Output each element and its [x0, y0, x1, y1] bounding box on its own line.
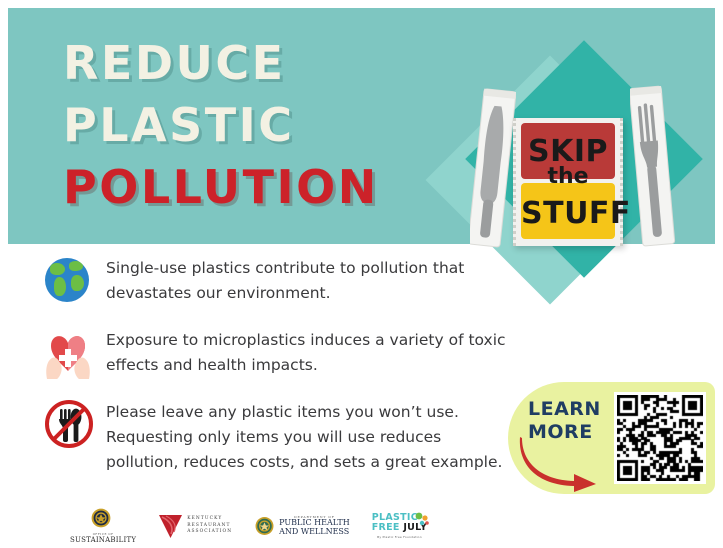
bullet-text-environment: Single-use plastics contribute to pollut…	[106, 252, 508, 306]
learn-more-line-1: LEARN	[528, 398, 601, 421]
earth-globe-icon	[38, 252, 96, 310]
logo-sustainability-big: SUSTAINABILITY	[70, 536, 136, 544]
wrapped-knife-icon	[470, 88, 516, 248]
sign-bottom-panel: STUFF	[521, 183, 615, 239]
seal-icon	[90, 508, 112, 529]
logo-kentucky-restaurant-association: KENTUCKY RESTAURANT ASSOCIATION	[158, 513, 232, 540]
partner-logo-row: OFFICE OF SUSTAINABILITY KENTUCKY RESTAU…	[70, 506, 470, 546]
curved-arrow-icon	[518, 434, 614, 492]
logo-dph-line-2: AND WELLNESS	[279, 528, 350, 537]
poster-root: REDUCE PLASTIC POLLUTION SKIP	[0, 0, 723, 548]
bullet-text-health: Exposure to microplastics induces a vari…	[106, 324, 508, 378]
no-plastic-utensils-icon	[38, 396, 96, 454]
kra-triangle-icon	[158, 513, 183, 540]
logo-pfj-word-2: FREE	[372, 522, 400, 533]
logo-kra-line-3: ASSOCIATION	[187, 529, 232, 536]
headline-line-1: REDUCE	[63, 32, 463, 94]
bullet-item-health: Exposure to microplastics induces a vari…	[38, 324, 508, 382]
logo-pfj-tagline: By Plastic Free Foundation	[372, 535, 428, 539]
logo-office-of-sustainability: OFFICE OF SUSTAINABILITY	[70, 508, 136, 544]
sign-word-stuff: STUFF	[521, 196, 615, 231]
headline-block: REDUCE PLASTIC POLLUTION	[63, 32, 463, 218]
leaf-mark-icon	[414, 511, 431, 528]
city-seal-icon	[254, 516, 275, 537]
sign-word-the: the	[516, 164, 620, 189]
qr-code[interactable]	[614, 392, 706, 484]
logo-kra-line-2: RESTAURANT	[187, 523, 232, 530]
bullet-item-request: Please leave any plastic items you won’t…	[38, 396, 508, 475]
heart-in-hands-icon	[38, 324, 96, 382]
logo-public-health-and-wellness: DEPARTMENT OF PUBLIC HEALTH AND WELLNESS	[254, 515, 350, 537]
bullet-item-environment: Single-use plastics contribute to pollut…	[38, 252, 508, 310]
skip-the-stuff-sign: SKIP STUFF the	[513, 118, 623, 246]
bullet-text-request: Please leave any plastic items you won’t…	[106, 396, 508, 475]
logo-plastic-free-july: PLASTIC FREE JULY By Plastic Free Founda…	[372, 513, 428, 538]
headline-line-3: POLLUTION	[63, 156, 463, 218]
headline-line-2: PLASTIC	[63, 94, 463, 156]
bullet-list: Single-use plastics contribute to pollut…	[38, 252, 508, 489]
wrapped-fork-icon	[630, 85, 676, 247]
learn-more-badge[interactable]: LEARN MORE	[508, 382, 715, 494]
logo-kra-line-1: KENTUCKY	[187, 516, 232, 523]
